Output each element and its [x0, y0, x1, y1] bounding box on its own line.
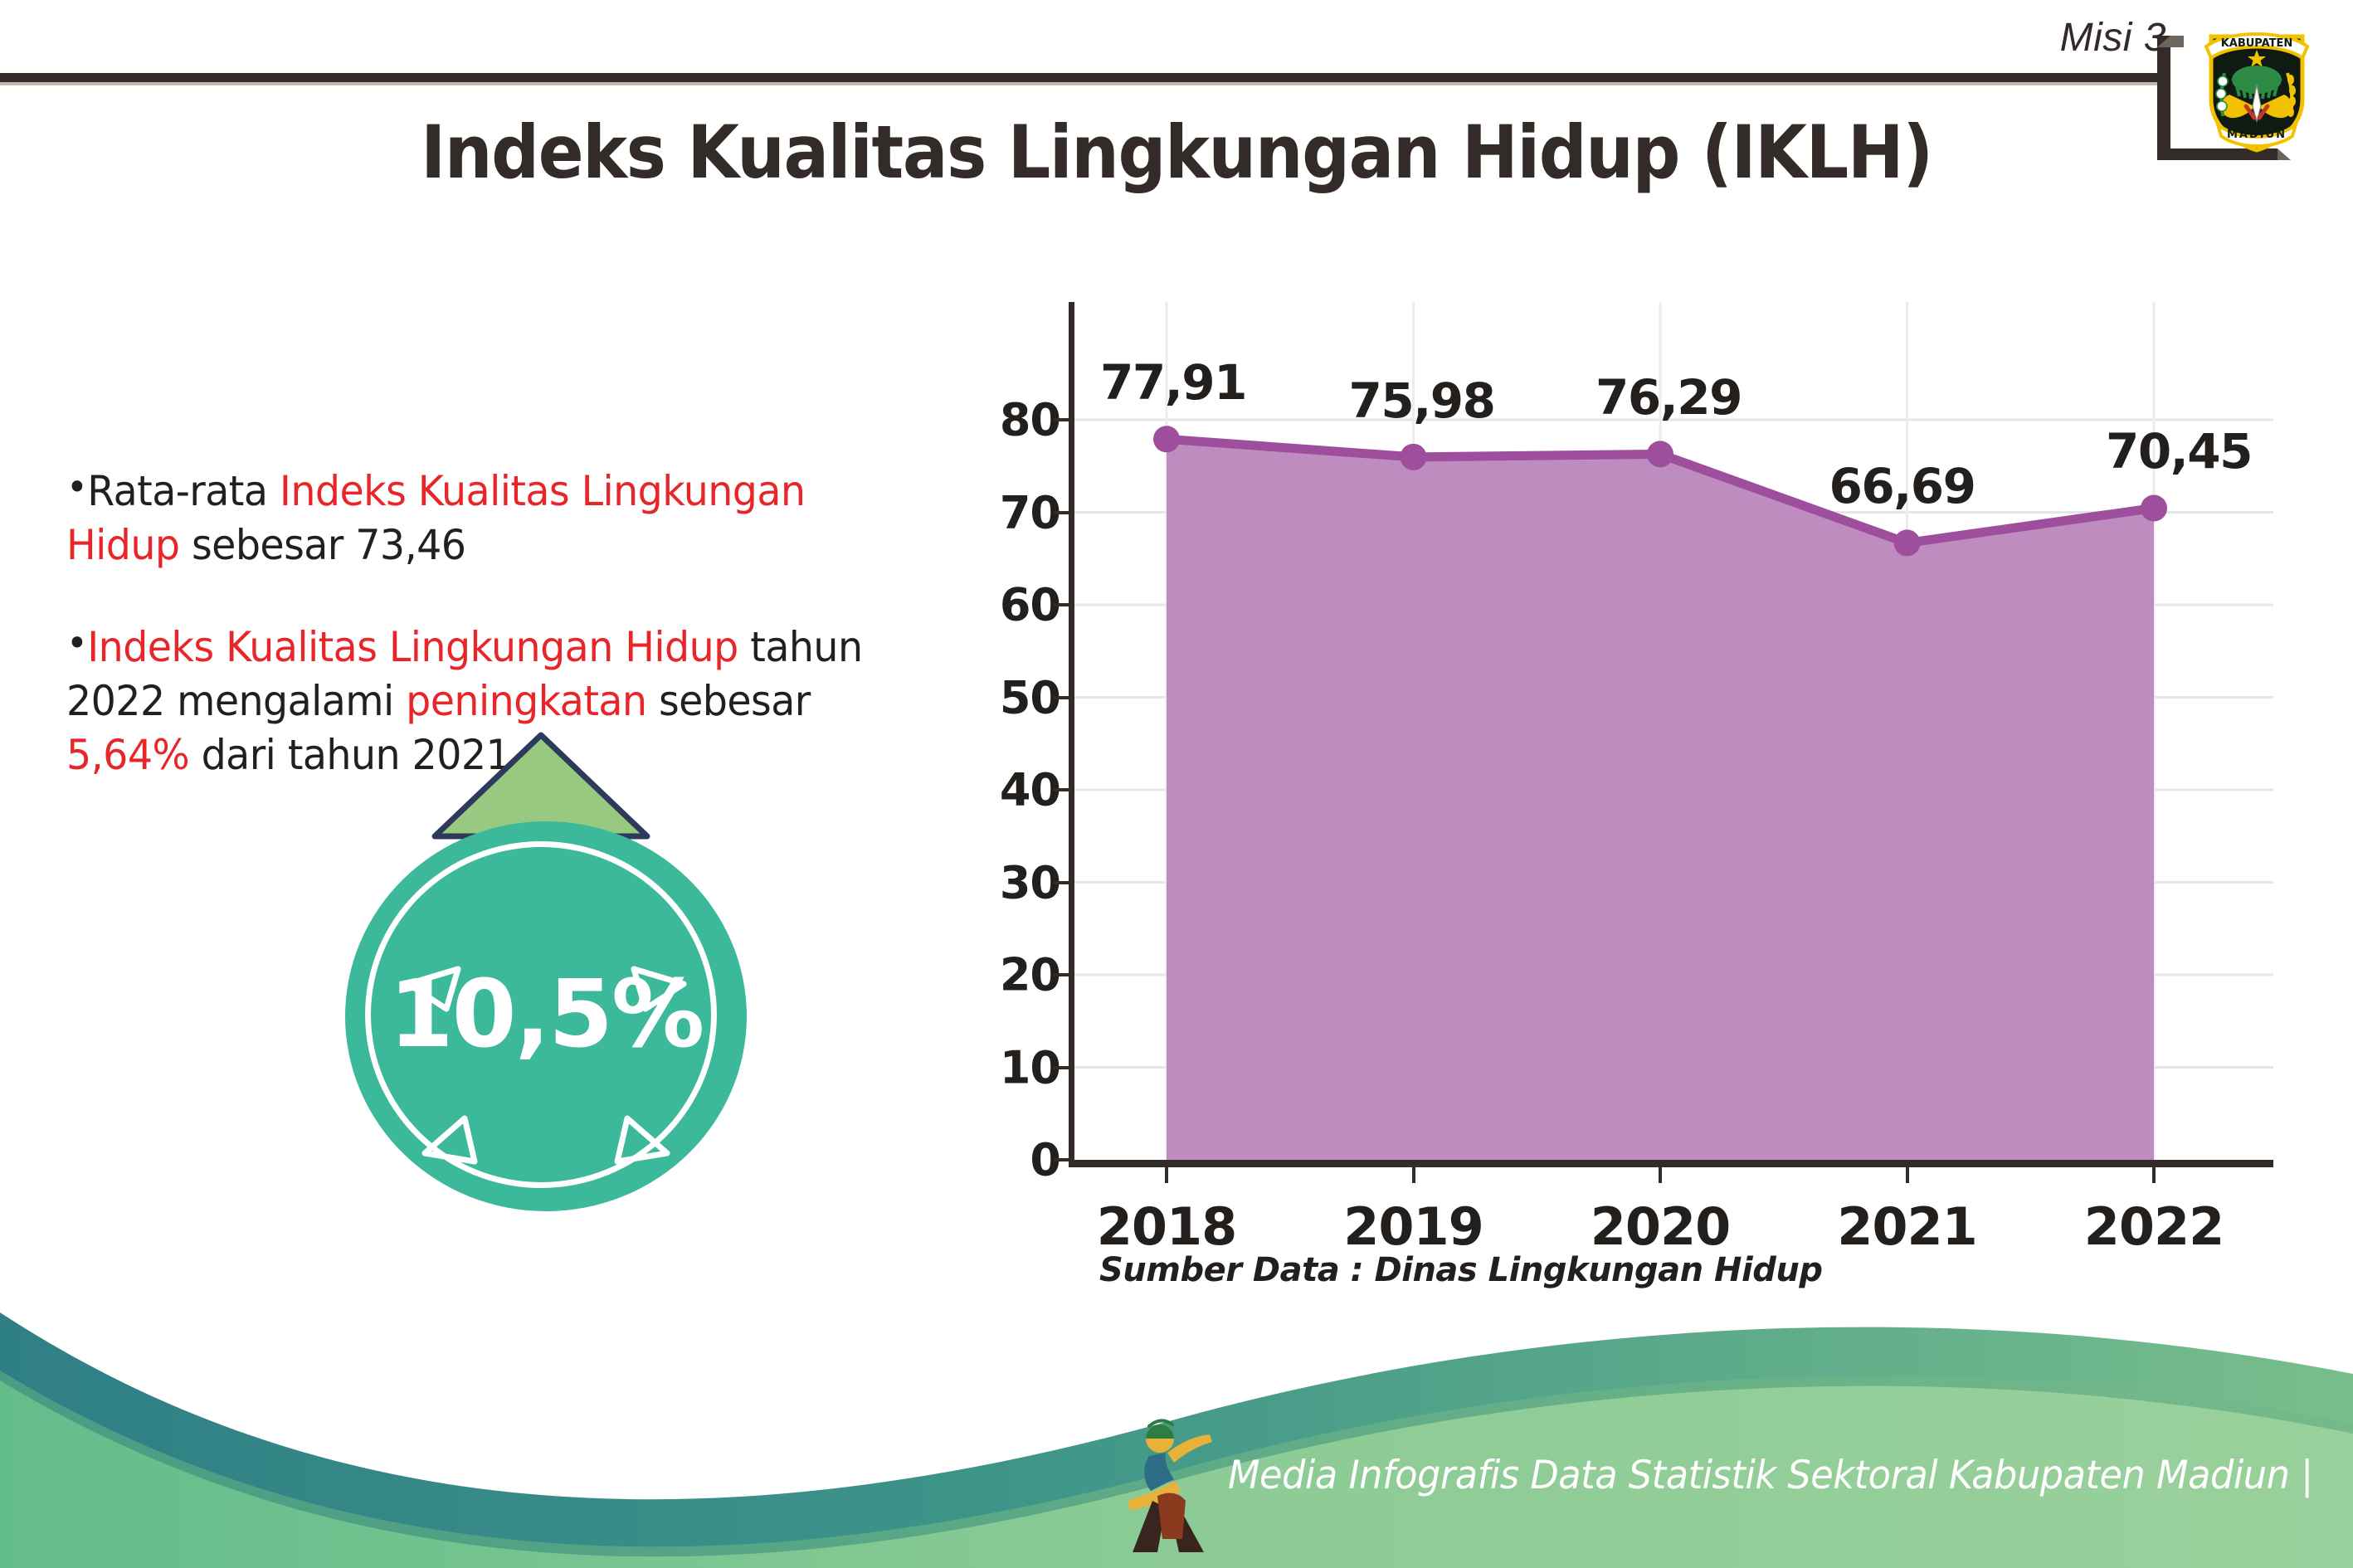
chart-source-note: Sumber Data : Dinas Lingkungan Hidup — [1099, 1251, 1822, 1289]
svg-text:KABUPATEN: KABUPATEN — [2221, 37, 2293, 50]
x-axis-line — [1069, 1160, 2273, 1167]
y-axis-tick-mark — [1054, 881, 1072, 884]
y-axis-tick-label: 40 — [928, 764, 1060, 816]
y-axis-tick-mark — [1054, 973, 1072, 976]
chart-data-label: 70,45 — [2106, 423, 2252, 480]
bullet-marker-icon: • — [66, 621, 87, 665]
header-divider-rule — [0, 73, 2157, 82]
x-axis-tick-mark — [1906, 1165, 1909, 1183]
chart-data-point — [2141, 494, 2167, 521]
insight-bullet-1: •Rata-rata Indeks Kualitas Lingkungan Hi… — [66, 465, 902, 572]
chart-data-point — [1647, 441, 1673, 467]
chart-data-label: 66,69 — [1829, 458, 1975, 514]
crest-bracket-vertical-bevel — [2157, 36, 2184, 47]
x-axis-tick-label: 2022 — [2046, 1196, 2262, 1257]
y-axis-tick-mark — [1054, 603, 1072, 606]
x-axis-tick-label: 2018 — [1059, 1196, 1274, 1257]
pesilat-figure-logo-icon — [1124, 1415, 1222, 1560]
header-divider-shadow — [0, 82, 2157, 85]
y-axis-tick-mark — [1054, 1158, 1072, 1161]
x-axis-tick-label: 2019 — [1306, 1196, 1522, 1257]
y-axis-tick-mark — [1054, 696, 1072, 699]
page-title: Indeks Kualitas Lingkungan Hidup (IKLH) — [94, 110, 2258, 195]
y-axis-tick-mark — [1054, 788, 1072, 791]
x-axis-tick-mark — [2152, 1165, 2156, 1183]
misi-label: Misi 3 — [2060, 15, 2166, 61]
y-axis-tick-label: 0 — [928, 1134, 1060, 1186]
y-axis-tick-label: 20 — [928, 949, 1060, 1001]
iklh-area-chart: 01020304050607080 20182019202020212022 7… — [979, 290, 2273, 1203]
chart-data-label: 77,91 — [1100, 354, 1246, 411]
chart-plot-area — [1069, 302, 2273, 1165]
growth-badge: 10,5% — [330, 730, 762, 1211]
badge-value: 10,5% — [330, 961, 762, 1069]
chart-data-point — [1153, 426, 1180, 452]
chart-area-fill — [1167, 439, 2154, 1160]
y-axis-tick-label: 50 — [928, 671, 1060, 723]
y-axis-tick-label: 60 — [928, 579, 1060, 631]
chart-data-label: 75,98 — [1349, 373, 1495, 429]
x-axis-tick-label: 2020 — [1552, 1196, 1768, 1257]
chart-data-point — [1401, 444, 1427, 470]
x-axis-tick-mark — [1412, 1165, 1415, 1183]
insight-bullet-1-text: Rata-rata Indeks Kualitas Lingkungan Hid… — [66, 467, 805, 569]
y-axis-tick-mark — [1054, 1066, 1072, 1069]
x-axis-tick-mark — [1165, 1165, 1168, 1183]
chart-data-point — [1894, 529, 1921, 556]
y-axis-tick-mark — [1054, 418, 1072, 421]
y-axis-tick-label: 30 — [928, 856, 1060, 908]
chart-data-label: 76,29 — [1595, 369, 1742, 426]
y-axis-tick-label: 70 — [928, 486, 1060, 538]
x-axis-tick-label: 2021 — [1800, 1196, 2015, 1257]
y-axis-tick-mark — [1054, 511, 1072, 514]
bullet-marker-icon: • — [66, 465, 87, 509]
footer-caption: Media Infografis Data Statistik Sektoral… — [1228, 1453, 2313, 1498]
y-axis-tick-label: 80 — [928, 394, 1060, 446]
y-axis-line — [1069, 302, 1074, 1165]
y-axis-tick-label: 10 — [928, 1041, 1060, 1093]
x-axis-tick-mark — [1659, 1165, 1662, 1183]
